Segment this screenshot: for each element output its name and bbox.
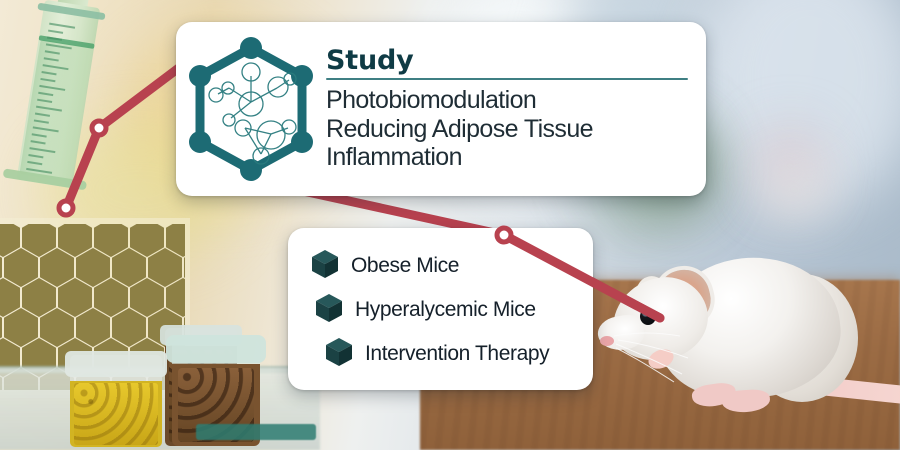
hexagon-molecule-svg — [185, 36, 317, 182]
syringe-tick — [45, 50, 60, 54]
cube-icon — [324, 336, 354, 372]
syringe-tick — [48, 30, 63, 34]
study-card-subtitle: Photobiomodulation Reducing Adipose Tiss… — [326, 86, 688, 172]
blurred-pot-base — [762, 165, 826, 215]
syringe-tick — [43, 64, 69, 70]
study-subtitle-line-2: Reducing Adipose Tissue — [326, 115, 688, 144]
jar-contents-honeycomb — [74, 383, 158, 445]
syringe-tick — [41, 71, 56, 75]
syringe-tick — [27, 161, 42, 165]
list-item-label: Intervention Therapy — [365, 342, 549, 366]
study-card[interactable]: Study Photobiomodulation Reducing Adipos… — [176, 22, 706, 196]
jar-lid-honey — [65, 351, 167, 377]
syringe-tick — [38, 92, 53, 96]
list-item-label: Obese Mice — [351, 254, 459, 278]
honeycomb-cell — [130, 278, 164, 317]
infographic-banner: Study Photobiomodulation Reducing Adipos… — [0, 0, 900, 450]
syringe-tick — [46, 43, 72, 49]
honeycomb-cell — [76, 248, 110, 287]
cube-icon — [314, 292, 344, 328]
honeycomb-cell — [40, 308, 74, 347]
mouse-whiskers — [596, 232, 896, 450]
honeycomb-cell — [94, 278, 128, 317]
syringe-tick — [35, 113, 50, 117]
syringe-tick — [28, 154, 43, 158]
list-item-label: Hyperalycemic Mice — [355, 298, 536, 322]
syringe-tick — [39, 85, 65, 91]
honeycomb-cell — [4, 308, 38, 347]
hexagon-molecule-icon — [176, 22, 326, 196]
honeycomb-cell — [58, 278, 92, 317]
honeycomb-cell — [148, 248, 182, 287]
jar-lid-front — [166, 335, 266, 363]
syringe-tick — [32, 133, 47, 137]
tray-green-label — [196, 424, 316, 440]
honeycomb-cell — [76, 308, 110, 347]
study-subtitle-line-3: Inflammation — [326, 143, 688, 172]
syringe-tick — [34, 119, 49, 123]
study-card-divider — [326, 78, 688, 80]
list-item[interactable]: Hyperalycemic Mice — [310, 292, 579, 328]
honeycomb-cell — [22, 278, 56, 317]
cube-icon — [310, 248, 340, 284]
specimen-jar-honey — [70, 355, 162, 447]
study-card-title: Study — [326, 46, 688, 76]
list-card[interactable]: Obese Mice Hyperalycemic Mice — [288, 228, 593, 390]
honeycomb-cell — [40, 248, 74, 287]
syringe-tick — [33, 126, 59, 132]
honeycomb-cell — [112, 308, 146, 347]
syringe-tick — [29, 147, 55, 153]
honeycomb-cell — [4, 248, 38, 287]
syringe-tick — [47, 36, 62, 40]
laboratory-mouse-photo — [596, 232, 896, 450]
list-item[interactable]: Obese Mice — [310, 248, 579, 284]
syringe-tick — [31, 140, 46, 144]
syringe-tick — [37, 99, 52, 103]
list-item[interactable]: Intervention Therapy — [310, 336, 579, 372]
syringe-tick — [44, 57, 59, 61]
study-subtitle-line-1: Photobiomodulation — [326, 86, 688, 115]
syringe-tick — [36, 106, 62, 112]
syringe-tick — [40, 78, 55, 82]
honeycomb-cell — [112, 248, 146, 287]
